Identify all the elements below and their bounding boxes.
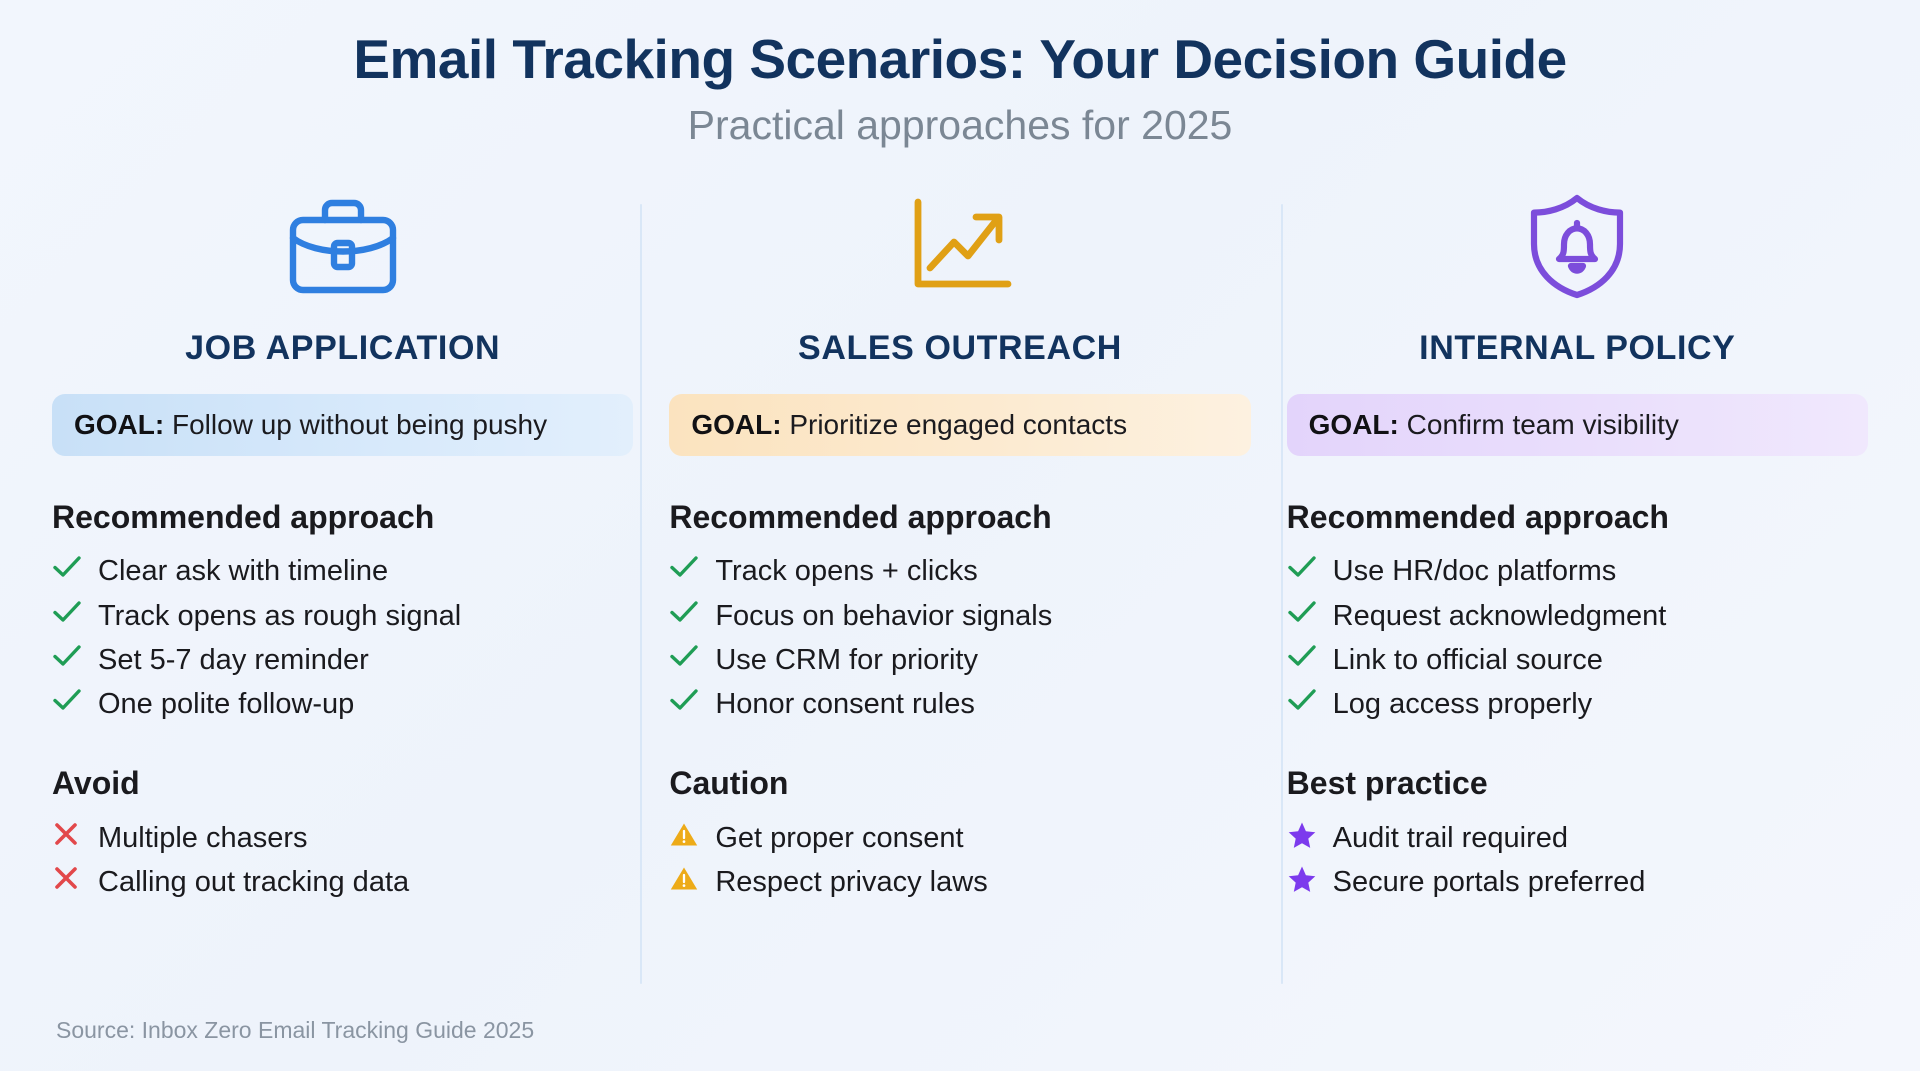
check-icon: [52, 597, 94, 625]
shield-bell-icon: [1287, 186, 1868, 306]
recommended-section: Recommended approach Track opens + click…: [669, 500, 1250, 726]
list-item-label: Link to official source: [1333, 641, 1603, 679]
caution-section: Caution Get proper consent Respect priva…: [669, 766, 1250, 904]
check-icon: [1287, 641, 1329, 669]
check-icon: [669, 552, 711, 580]
goal-label: GOAL:: [1309, 409, 1399, 440]
list-item-label: Secure portals preferred: [1333, 863, 1646, 901]
section-heading: Recommended approach: [52, 500, 633, 535]
section-heading: Avoid: [52, 766, 633, 801]
check-icon: [1287, 597, 1329, 625]
check-icon: [669, 685, 711, 713]
list-item-label: Calling out tracking data: [98, 863, 409, 901]
avoid-list: Multiple chasers Calling out tracking da…: [52, 816, 633, 905]
list-item: Get proper consent: [669, 816, 1250, 860]
check-icon: [1287, 685, 1329, 713]
goal-text: Prioritize engaged contacts: [782, 409, 1128, 440]
list-item: Multiple chasers: [52, 816, 633, 860]
goal-text: Follow up without being pushy: [164, 409, 547, 440]
column-title: JOB APPLICATION: [52, 330, 633, 367]
infographic-page: Email Tracking Scenarios: Your Decision …: [0, 0, 1920, 1071]
list-item: Track opens as rough signal: [52, 594, 633, 638]
list-item: Log access properly: [1287, 682, 1868, 726]
list-item-label: Use CRM for priority: [715, 641, 978, 679]
list-item-label: Request acknowledgment: [1333, 597, 1667, 635]
list-item: Secure portals preferred: [1287, 860, 1868, 904]
goal-label: GOAL:: [691, 409, 781, 440]
list-item: Track opens + clicks: [669, 549, 1250, 593]
list-item-label: Multiple chasers: [98, 819, 308, 857]
scenario-column-sales-outreach: SALES OUTREACH GOAL: Prioritize engaged …: [651, 186, 1268, 904]
star-icon: [1287, 863, 1329, 894]
page-title: Email Tracking Scenarios: Your Decision …: [0, 30, 1920, 89]
list-item-label: Focus on behavior signals: [715, 597, 1052, 635]
check-icon: [52, 552, 94, 580]
section-heading: Recommended approach: [1287, 500, 1868, 535]
list-item: Audit trail required: [1287, 816, 1868, 860]
recommended-list: Track opens + clicks Focus on behavior s…: [669, 549, 1250, 726]
list-item: Link to official source: [1287, 638, 1868, 682]
source-footer: Source: Inbox Zero Email Tracking Guide …: [56, 1017, 534, 1045]
list-item: Focus on behavior signals: [669, 594, 1250, 638]
goal-badge: GOAL: Follow up without being pushy: [52, 394, 633, 456]
list-item-label: Respect privacy laws: [715, 863, 987, 901]
scenario-column-job-application: JOB APPLICATION GOAL: Follow up without …: [34, 186, 651, 904]
section-heading: Recommended approach: [669, 500, 1250, 535]
list-item-label: Track opens + clicks: [715, 552, 977, 590]
avoid-section: Avoid Multiple chasers Calling out track…: [52, 766, 633, 904]
cross-icon: [52, 863, 94, 891]
page-subtitle: Practical approaches for 2025: [0, 103, 1920, 148]
check-icon: [52, 641, 94, 669]
warning-triangle-icon: [669, 863, 711, 892]
section-heading: Best practice: [1287, 766, 1868, 801]
list-item-label: Audit trail required: [1333, 819, 1568, 857]
trending-up-chart-icon: [669, 186, 1250, 306]
caution-list: Get proper consent Respect privacy laws: [669, 816, 1250, 905]
star-icon: [1287, 819, 1329, 850]
column-title: SALES OUTREACH: [669, 330, 1250, 367]
list-item: Honor consent rules: [669, 682, 1250, 726]
list-item-label: Track opens as rough signal: [98, 597, 461, 635]
best-practice-section: Best practice Audit trail required Secur…: [1287, 766, 1868, 904]
list-item: Clear ask with timeline: [52, 549, 633, 593]
check-icon: [1287, 552, 1329, 580]
list-item-label: Log access properly: [1333, 685, 1593, 723]
scenario-columns: JOB APPLICATION GOAL: Follow up without …: [0, 186, 1920, 904]
warning-triangle-icon: [669, 819, 711, 848]
list-item: Use HR/doc platforms: [1287, 549, 1868, 593]
list-item: Set 5-7 day reminder: [52, 638, 633, 682]
check-icon: [669, 597, 711, 625]
list-item: Use CRM for priority: [669, 638, 1250, 682]
recommended-section: Recommended approach Clear ask with time…: [52, 500, 633, 726]
cross-icon: [52, 819, 94, 847]
list-item-label: Get proper consent: [715, 819, 963, 857]
goal-badge: GOAL: Prioritize engaged contacts: [669, 394, 1250, 456]
section-heading: Caution: [669, 766, 1250, 801]
list-item: Respect privacy laws: [669, 860, 1250, 904]
list-item: Request acknowledgment: [1287, 594, 1868, 638]
column-title: INTERNAL POLICY: [1287, 330, 1868, 367]
goal-badge: GOAL: Confirm team visibility: [1287, 394, 1868, 456]
scenario-column-internal-policy: INTERNAL POLICY GOAL: Confirm team visib…: [1269, 186, 1886, 904]
check-icon: [669, 641, 711, 669]
list-item-label: Clear ask with timeline: [98, 552, 388, 590]
list-item-label: Use HR/doc platforms: [1333, 552, 1617, 590]
list-item: Calling out tracking data: [52, 860, 633, 904]
list-item: One polite follow-up: [52, 682, 633, 726]
recommended-section: Recommended approach Use HR/doc platform…: [1287, 500, 1868, 726]
goal-text: Confirm team visibility: [1399, 409, 1679, 440]
list-item-label: Set 5-7 day reminder: [98, 641, 369, 679]
recommended-list: Clear ask with timeline Track opens as r…: [52, 549, 633, 726]
check-icon: [52, 685, 94, 713]
recommended-list: Use HR/doc platforms Request acknowledgm…: [1287, 549, 1868, 726]
list-item-label: One polite follow-up: [98, 685, 354, 723]
goal-label: GOAL:: [74, 409, 164, 440]
briefcase-icon: [52, 186, 633, 306]
header: Email Tracking Scenarios: Your Decision …: [0, 0, 1920, 148]
list-item-label: Honor consent rules: [715, 685, 975, 723]
best-practice-list: Audit trail required Secure portals pref…: [1287, 816, 1868, 905]
